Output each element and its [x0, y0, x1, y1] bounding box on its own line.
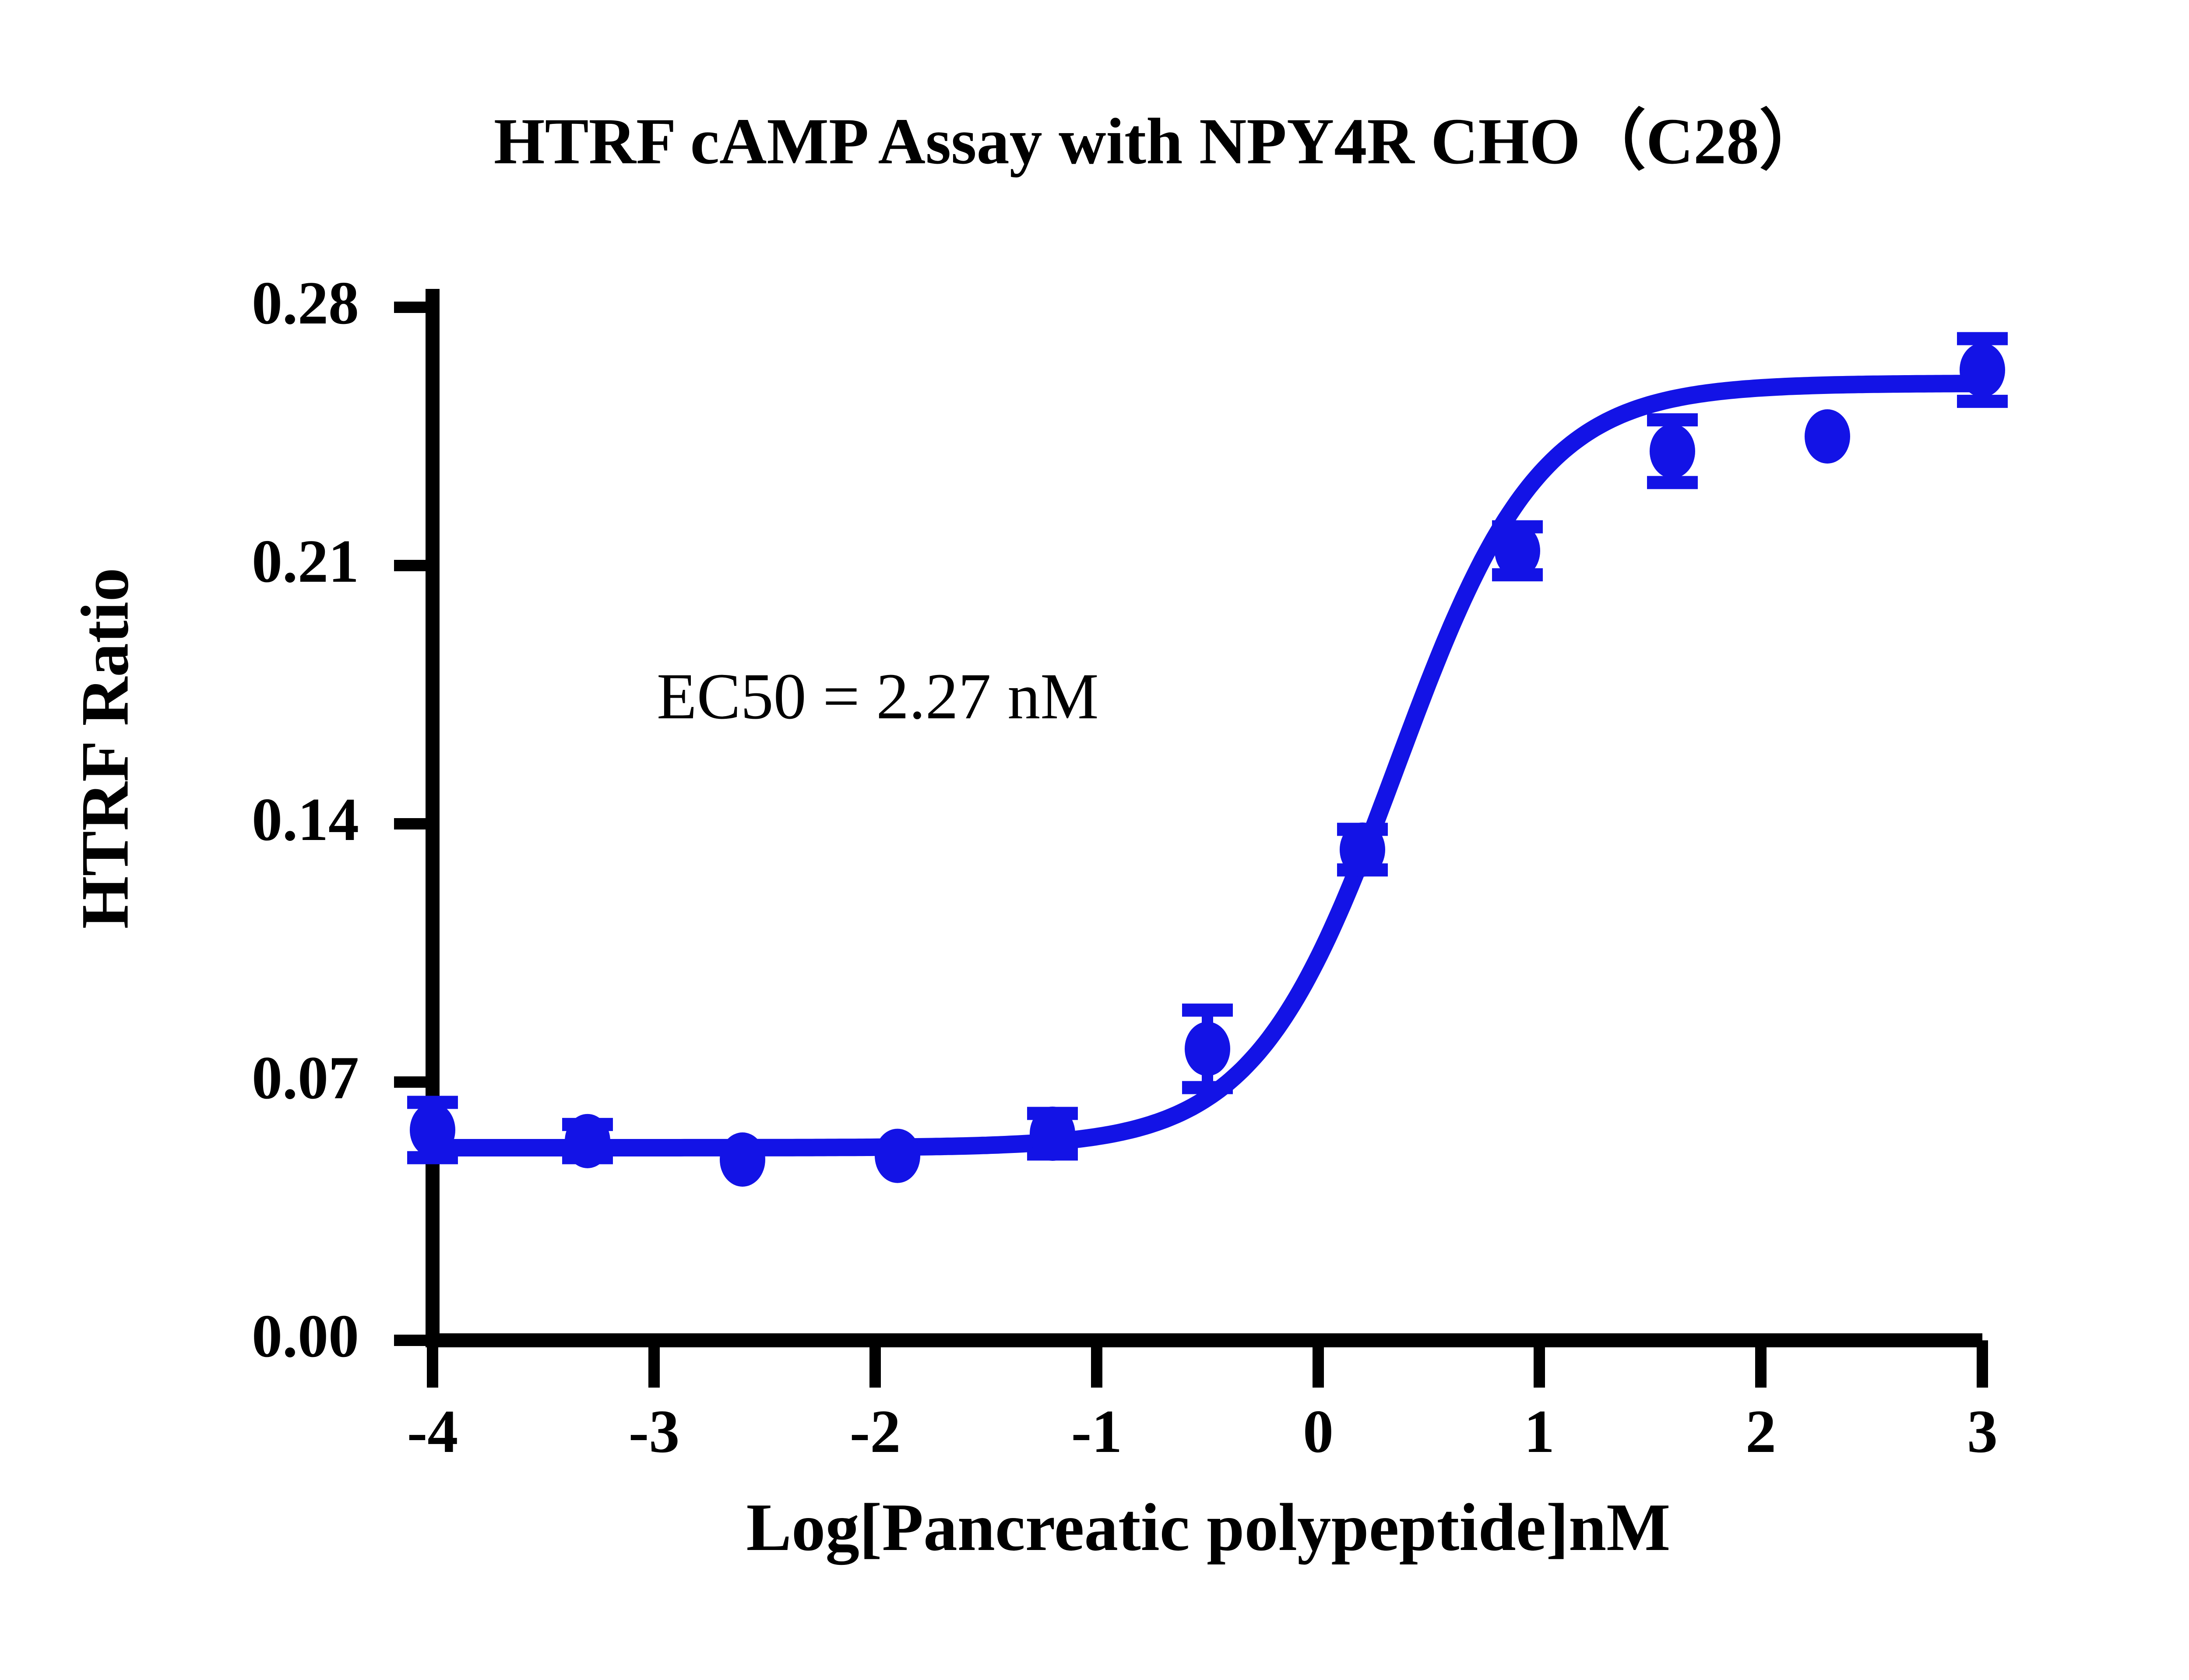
axis-lines	[426, 289, 1982, 1340]
y-tick-label-0: 0.00	[53, 1301, 359, 1371]
data-point-marker	[875, 1129, 920, 1183]
data-point-marker	[410, 1103, 455, 1157]
data-point-marker	[1030, 1107, 1075, 1161]
data-point-marker	[1650, 424, 1695, 478]
y-tick-label-4: 0.28	[53, 268, 359, 338]
data-markers-group	[410, 343, 2005, 1187]
x-tick-label-0: -4	[367, 1396, 498, 1467]
x-tick-label-6: 2	[1695, 1396, 1827, 1467]
y-axis-title: HTRF Ratio	[66, 442, 144, 1055]
x-tick-label-7: 3	[1917, 1396, 2048, 1467]
data-point-marker	[1495, 524, 1540, 578]
data-point-marker	[1960, 343, 2005, 397]
x-axis-title: Log[Pancreatic polypeptide]nM	[289, 1488, 2128, 1567]
x-tick-label-4: 0	[1253, 1396, 1384, 1467]
x-tick-label-1: -3	[588, 1396, 720, 1467]
data-point-marker	[1185, 1022, 1230, 1076]
x-axis-ticks	[433, 1340, 1982, 1388]
chart-figure: HTRF cAMP Assay with NPY4R CHO（C28）	[0, 0, 2189, 1680]
x-tick-label-3: -1	[1031, 1396, 1162, 1467]
data-point-marker	[565, 1114, 610, 1168]
data-point-marker	[1340, 822, 1385, 877]
x-tick-label-2: -2	[809, 1396, 941, 1467]
ec50-annotation: EC50 = 2.27 nM	[657, 659, 1099, 734]
data-point-marker	[1805, 409, 1850, 464]
x-tick-label-5: 1	[1474, 1396, 1605, 1467]
data-point-marker	[720, 1132, 765, 1187]
